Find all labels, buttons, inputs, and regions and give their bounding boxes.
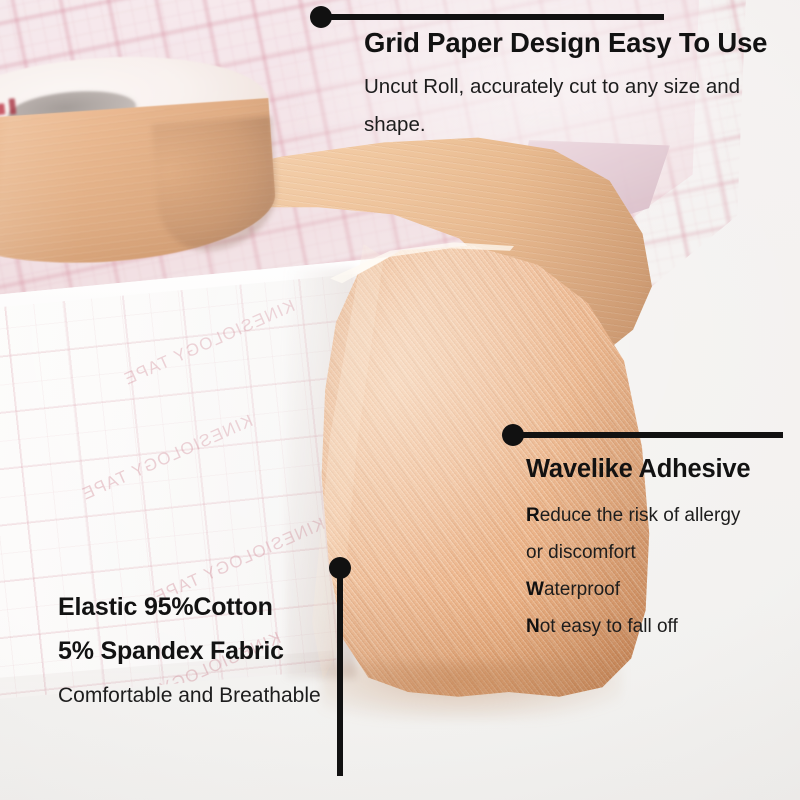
- list-item-initial: R: [526, 505, 540, 526]
- callout-wavelike-title: Wavelike Adhesive: [526, 453, 796, 485]
- callout-wavelike-list: Reduce the risk of allergy or discomfort…: [526, 497, 796, 645]
- list-item: Reduce the risk of allergy: [526, 497, 796, 534]
- list-item-initial: N: [526, 616, 540, 637]
- list-item-text: educe the risk of allergy: [540, 505, 741, 526]
- callout-wavelike-adhesive: Wavelike Adhesive Reduce the risk of all…: [526, 453, 796, 645]
- callout-grid-paper-body: Uncut Roll, accurately cut to any size a…: [364, 68, 794, 144]
- callout-grid-paper: Grid Paper Design Easy To Use Uncut Roll…: [364, 26, 794, 144]
- callout-elastic-fabric: Elastic 95%Cotton 5% Spandex Fabric Comf…: [58, 585, 388, 713]
- leader-line-grid-paper: [321, 14, 664, 20]
- list-item-initial: W: [526, 579, 544, 600]
- list-item-text: aterproof: [544, 579, 620, 600]
- list-item: Waterproof: [526, 571, 796, 608]
- list-item-text: ot easy to fall off: [540, 616, 678, 637]
- leader-line-wavelike: [513, 432, 783, 438]
- list-item-text: or discomfort: [526, 542, 636, 563]
- callout-grid-paper-title: Grid Paper Design Easy To Use: [364, 26, 794, 60]
- product-feature-image: KINESIOLOGY TAPE KINESIOLOGY TAPE KINESI…: [0, 0, 800, 800]
- callout-elastic-title-line1: Elastic 95%Cotton: [58, 585, 388, 629]
- list-item: or discomfort: [526, 534, 796, 571]
- callout-elastic-body: Comfortable and Breathable: [58, 679, 388, 713]
- list-item: Not easy to fall off: [526, 608, 796, 645]
- callout-elastic-title-line2: 5% Spandex Fabric: [58, 629, 388, 673]
